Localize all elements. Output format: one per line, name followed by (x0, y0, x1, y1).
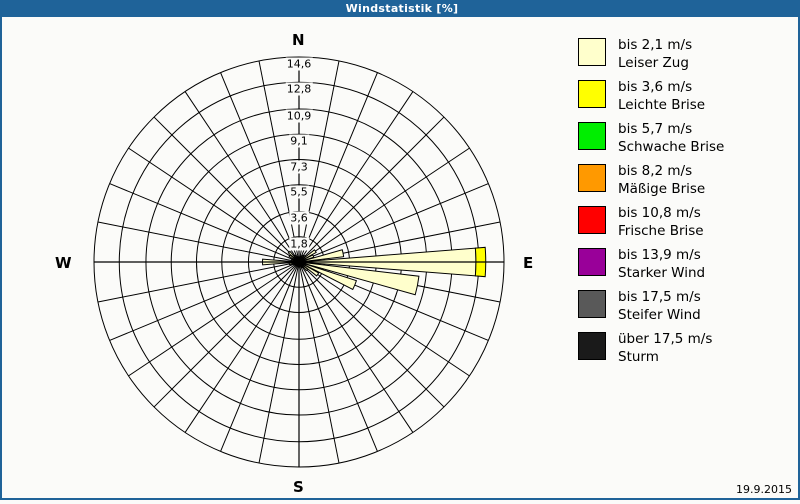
legend-item: bis 3,6 m/sLeichte Brise (578, 78, 798, 114)
legend-label-block: über 17,5 m/sSturm (618, 330, 712, 366)
legend-speed-label: über 17,5 m/s (618, 330, 712, 348)
radial-tick-label: 1,8 (289, 237, 309, 250)
date-stamp: 19.9.2015 (736, 483, 792, 496)
grid-spoke (299, 262, 377, 451)
grid-spoke (154, 262, 299, 407)
legend-speed-label: bis 8,2 m/s (618, 162, 705, 180)
legend-color-swatch (578, 290, 606, 318)
legend-label-block: bis 3,6 m/sLeichte Brise (618, 78, 705, 114)
legend-label-block: bis 17,5 m/sSteifer Wind (618, 288, 701, 324)
grid-spoke (299, 262, 444, 407)
legend-item: bis 13,9 m/sStarker Wind (578, 246, 798, 282)
wind-rose-chart: N S W E 1,83,65,57,39,110,912,814,6 (2, 17, 572, 500)
legend-name-label: Mäßige Brise (618, 180, 705, 198)
radial-tick-label: 7,3 (289, 160, 309, 173)
radial-tick-label: 14,6 (286, 58, 313, 71)
legend-item: bis 5,7 m/sSchwache Brise (578, 120, 798, 156)
grid-spoke (110, 184, 299, 262)
legend-speed-label: bis 2,1 m/s (618, 36, 692, 54)
legend-speed-label: bis 10,8 m/s (618, 204, 704, 222)
grid-spoke (154, 117, 299, 262)
radial-tick-label: 9,1 (289, 135, 309, 148)
legend-item: bis 17,5 m/sSteifer Wind (578, 288, 798, 324)
legend-color-swatch (578, 248, 606, 276)
legend-color-swatch (578, 206, 606, 234)
legend-name-label: Leiser Zug (618, 54, 692, 72)
radial-tick-label: 5,5 (289, 185, 309, 198)
legend-name-label: Sturm (618, 348, 712, 366)
legend-color-swatch (578, 122, 606, 150)
legend-speed-label: bis 17,5 m/s (618, 288, 701, 306)
legend-name-label: Leichte Brise (618, 96, 705, 114)
legend-item: bis 10,8 m/sFrische Brise (578, 204, 798, 240)
legend-name-label: Frische Brise (618, 222, 704, 240)
legend-speed-label: bis 13,9 m/s (618, 246, 705, 264)
page-title: Windstatistik [%] (346, 2, 459, 15)
legend-color-swatch (578, 164, 606, 192)
compass-label-south: S (293, 478, 304, 496)
legend-speed-label: bis 5,7 m/s (618, 120, 724, 138)
legend-item: über 17,5 m/sSturm (578, 330, 798, 366)
legend-name-label: Schwache Brise (618, 138, 724, 156)
compass-label-east: E (523, 254, 533, 272)
radial-tick-label: 3,6 (289, 212, 309, 225)
compass-label-north: N (292, 31, 305, 49)
window-title-bar: Windstatistik [%] (2, 0, 800, 17)
radial-tick-label: 10,9 (286, 109, 313, 122)
legend-label-block: bis 13,9 m/sStarker Wind (618, 246, 705, 282)
radial-tick-label: 12,8 (286, 83, 313, 96)
grid-spoke (221, 262, 299, 451)
legend-item: bis 2,1 m/sLeiser Zug (578, 36, 798, 72)
legend: bis 2,1 m/sLeiser Zugbis 3,6 m/sLeichte … (578, 36, 798, 372)
legend-name-label: Steifer Wind (618, 306, 701, 324)
legend-color-swatch (578, 80, 606, 108)
compass-label-west: W (55, 254, 72, 272)
legend-label-block: bis 2,1 m/sLeiser Zug (618, 36, 692, 72)
legend-color-swatch (578, 332, 606, 360)
legend-label-block: bis 5,7 m/sSchwache Brise (618, 120, 724, 156)
grid-spoke (299, 73, 377, 262)
grid-spoke (299, 117, 444, 262)
legend-speed-label: bis 3,6 m/s (618, 78, 705, 96)
grid-spoke (110, 262, 299, 340)
legend-name-label: Starker Wind (618, 264, 705, 282)
legend-label-block: bis 8,2 m/sMäßige Brise (618, 162, 705, 198)
legend-item: bis 8,2 m/sMäßige Brise (578, 162, 798, 198)
legend-label-block: bis 10,8 m/sFrische Brise (618, 204, 704, 240)
legend-color-swatch (578, 38, 606, 66)
grid-spoke (221, 73, 299, 262)
